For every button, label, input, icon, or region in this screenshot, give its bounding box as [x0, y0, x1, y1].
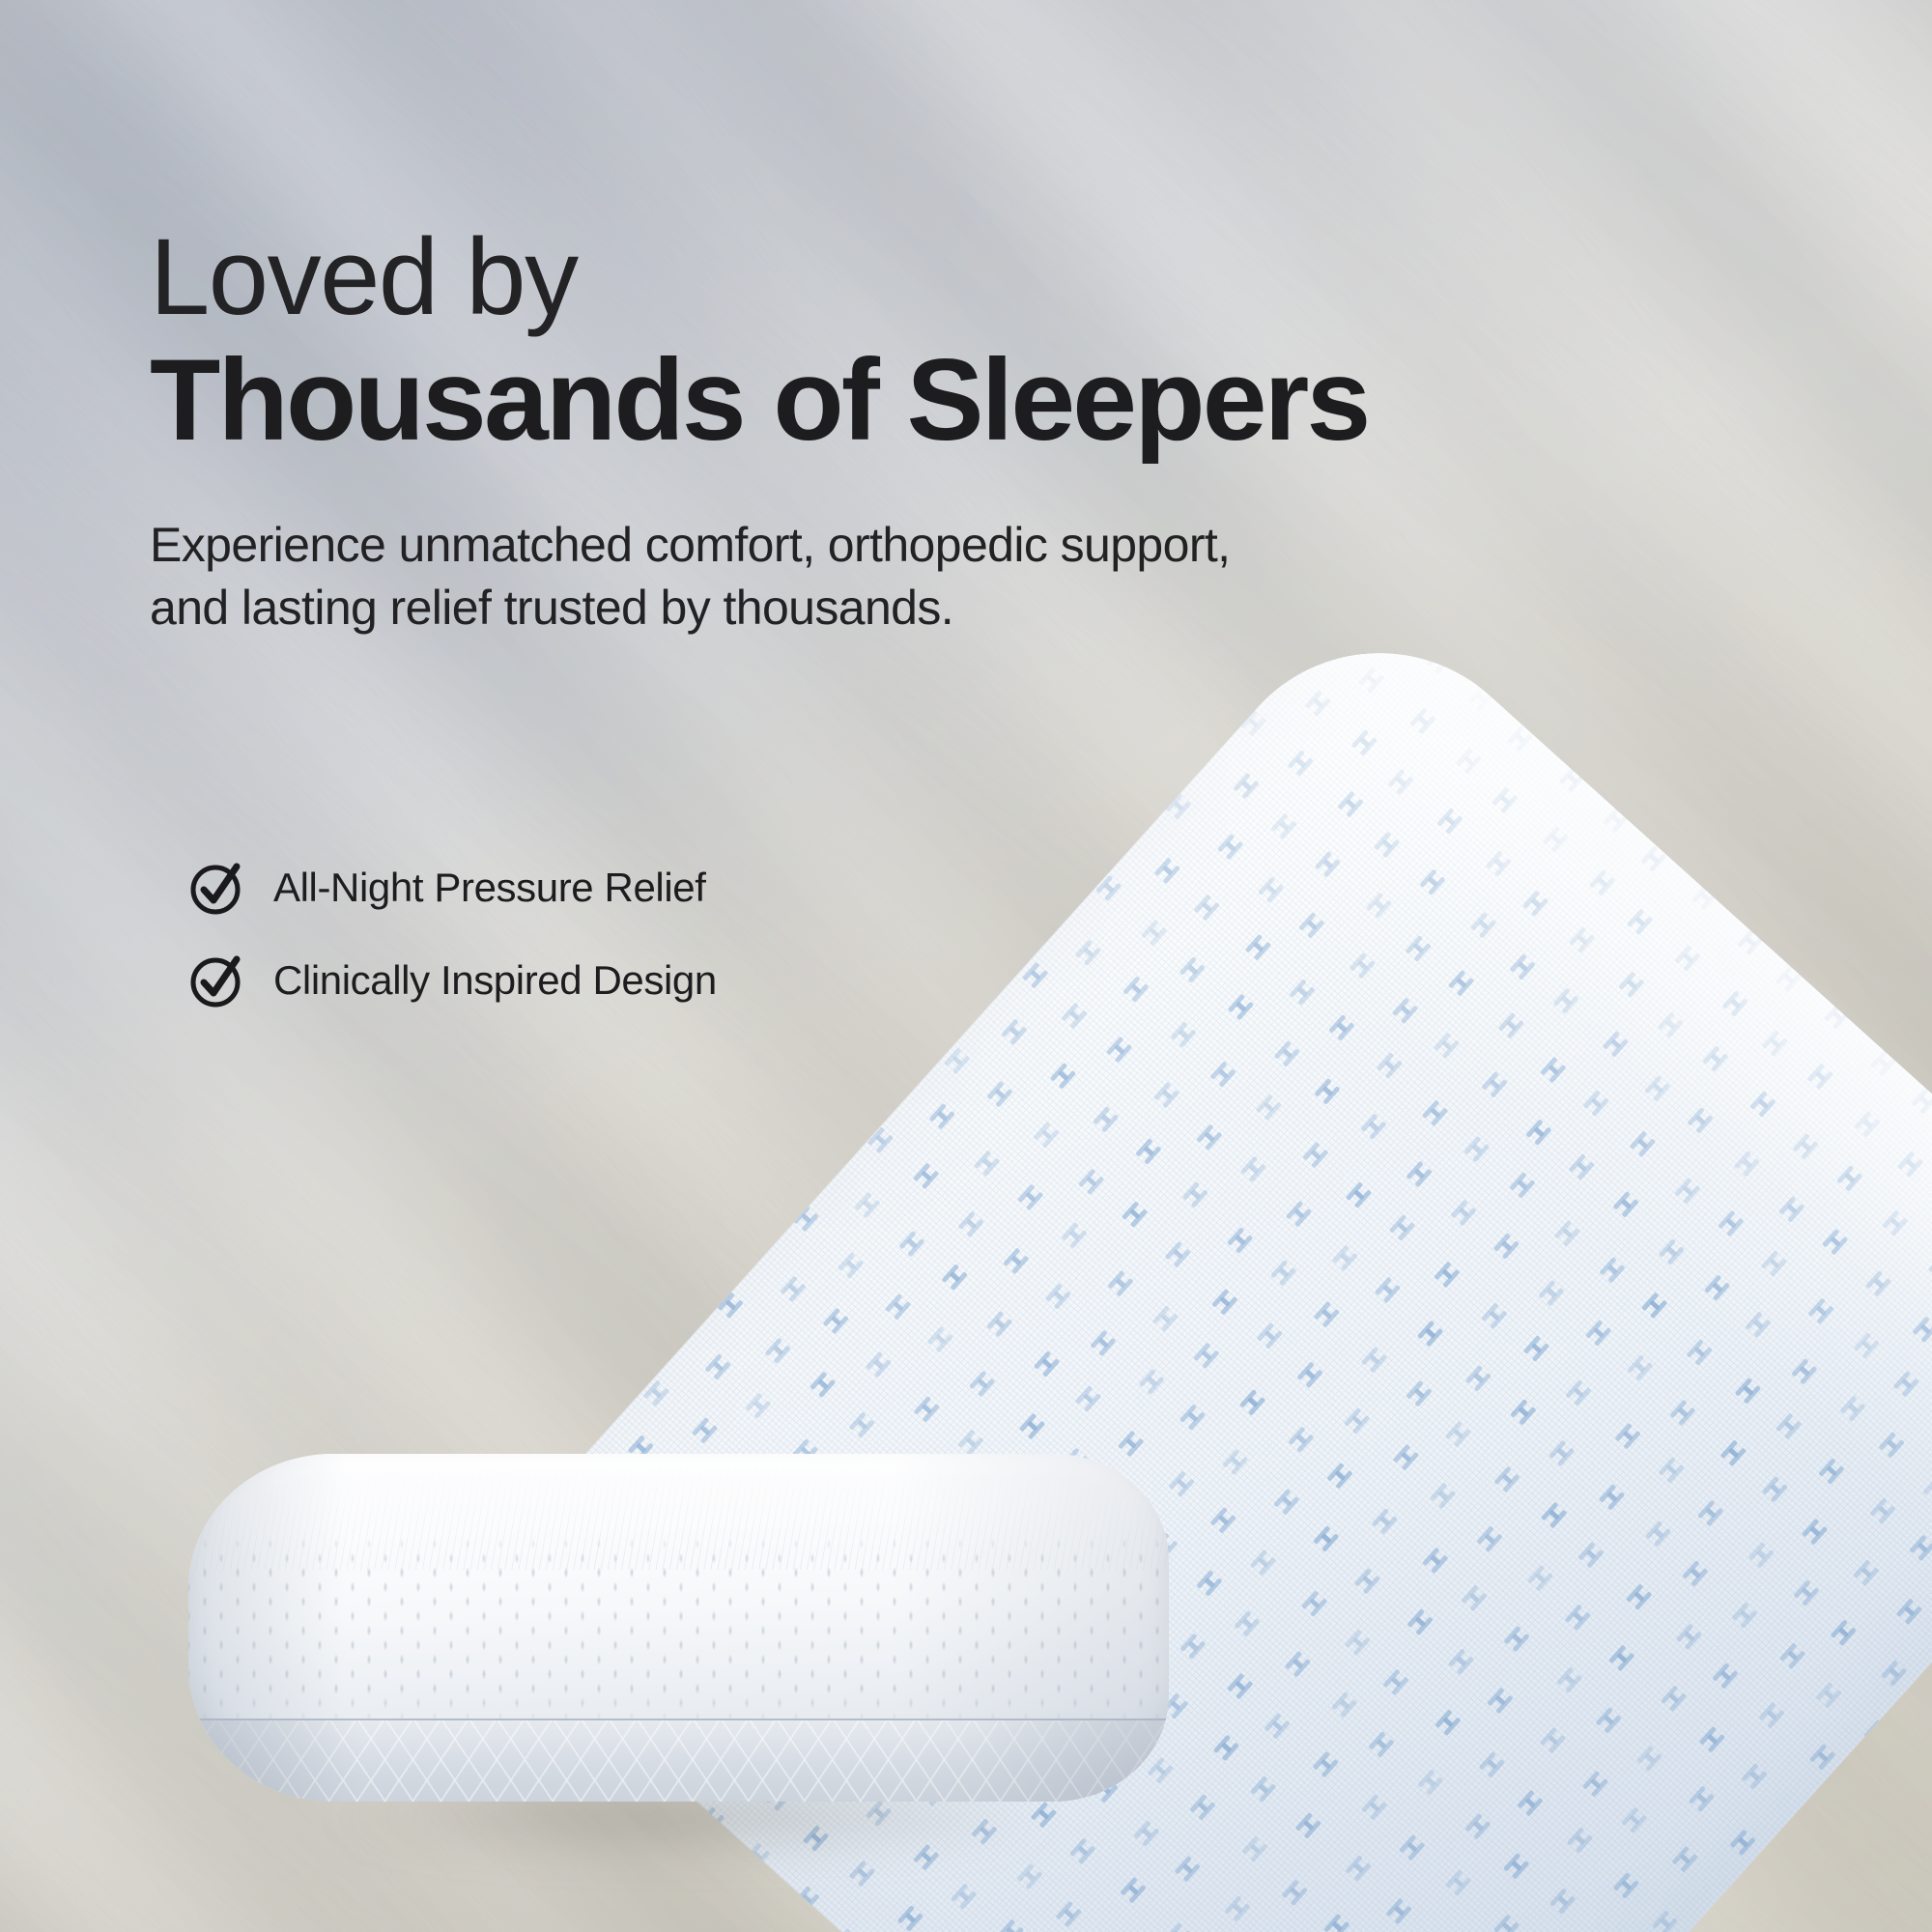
headline-line-1: Loved by [150, 220, 1435, 334]
feature-item: All-Night Pressure Relief [188, 860, 717, 916]
feature-label: All-Night Pressure Relief [273, 865, 706, 911]
copy-block: Loved by Thousands of Sleepers Experienc… [150, 220, 1435, 639]
check-circle-icon [188, 952, 244, 1009]
check-circle-icon [188, 860, 244, 916]
pillow-body [188, 1454, 1169, 1802]
feature-list: All-Night Pressure Relief Clinically Ins… [188, 860, 717, 1045]
feature-item: Clinically Inspired Design [188, 952, 717, 1009]
subheadline: Experience unmatched comfort, orthopedic… [150, 514, 1309, 639]
headline-line-2: Thousands of Sleepers [150, 340, 1435, 461]
promo-banner: Loved by Thousands of Sleepers Experienc… [0, 0, 1932, 1932]
pillow-product-image [188, 1454, 1183, 1860]
feature-label: Clinically Inspired Design [273, 957, 717, 1004]
pillow-edge-shading [188, 1454, 1169, 1802]
